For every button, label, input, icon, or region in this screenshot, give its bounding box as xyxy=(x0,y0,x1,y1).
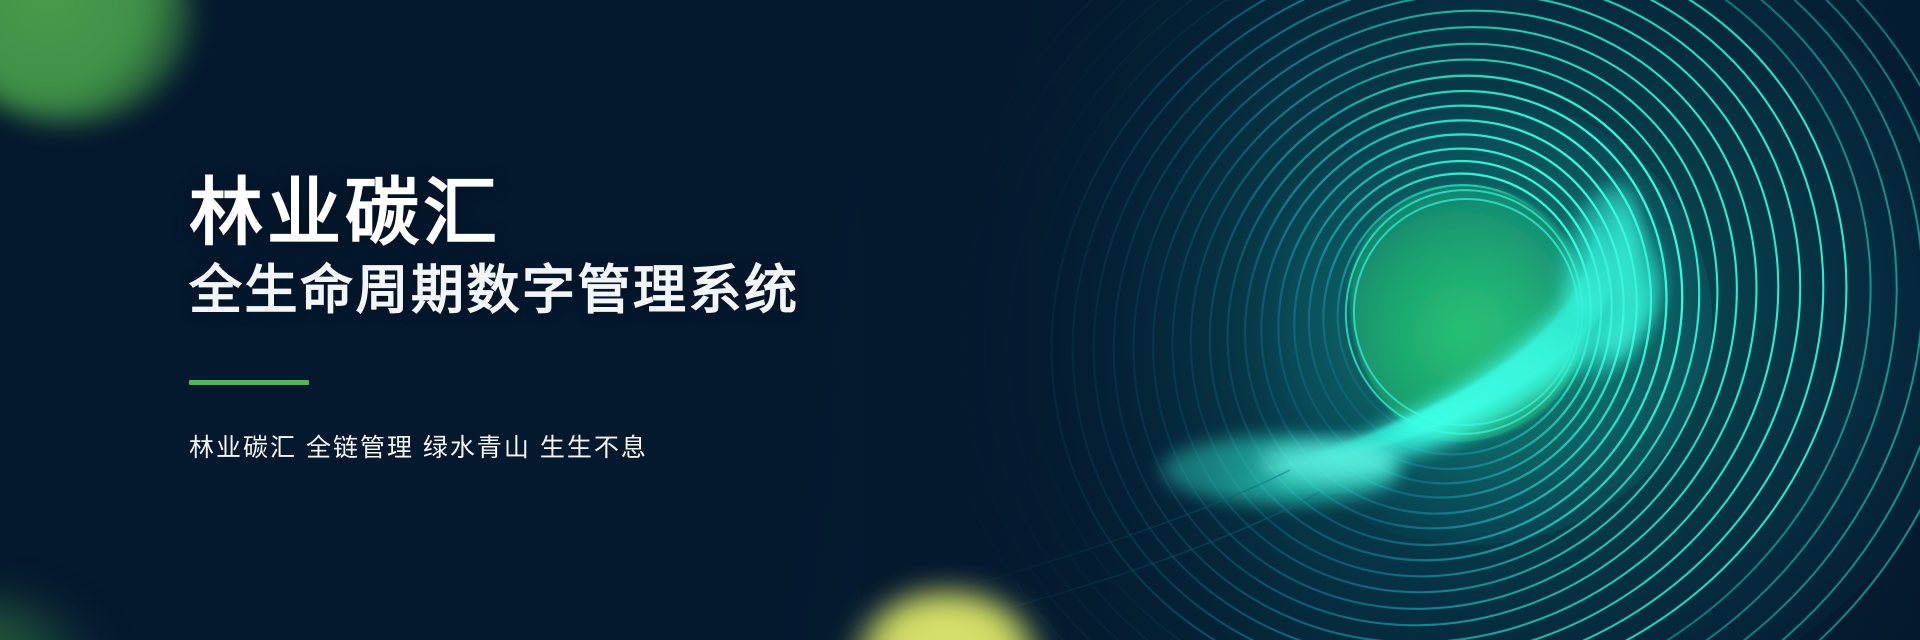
hero-banner: 林业碳汇 全生命周期数字管理系统 林业碳汇 全链管理 绿水青山 生生不息 xyxy=(0,0,1920,640)
page-subtitle: 全生命周期数字管理系统 xyxy=(189,261,800,322)
hero-content: 林业碳汇 全生命周期数字管理系统 林业碳汇 全链管理 绿水青山 生生不息 xyxy=(189,0,800,640)
accent-divider xyxy=(189,380,309,385)
tagline: 林业碳汇 全链管理 绿水青山 生生不息 xyxy=(189,431,800,466)
page-title: 林业碳汇 xyxy=(189,174,800,252)
